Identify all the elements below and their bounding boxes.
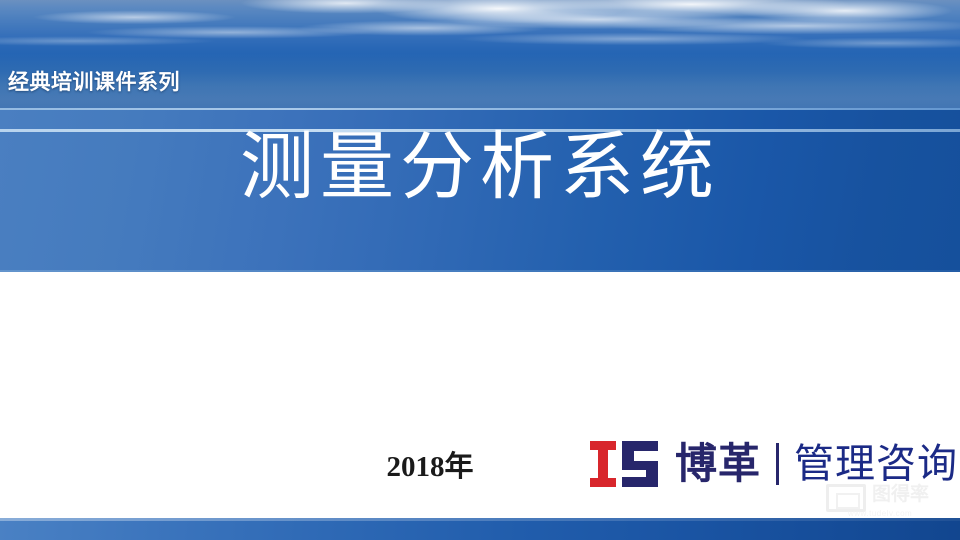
band-top-rule [0, 108, 960, 110]
logo-subtitle: 管理咨询 [794, 444, 958, 484]
brand-logo: 博革 管理咨询 [586, 436, 958, 492]
page-title: 测量分析系统 [0, 126, 960, 207]
logo-wordmark: 博革 [675, 443, 761, 485]
title-slide: 经典培训课件系列 测量分析系统 2018年 博革 管理咨询 图得率 www.tu… [0, 0, 960, 540]
course-series-label: 经典培训课件系列 [8, 72, 180, 93]
bg-monogram-icon [586, 439, 664, 489]
footer-bar-highlight [0, 518, 960, 521]
year-label: 2018年 [330, 443, 530, 485]
footer-bar [0, 518, 960, 540]
logo-divider [776, 443, 779, 485]
